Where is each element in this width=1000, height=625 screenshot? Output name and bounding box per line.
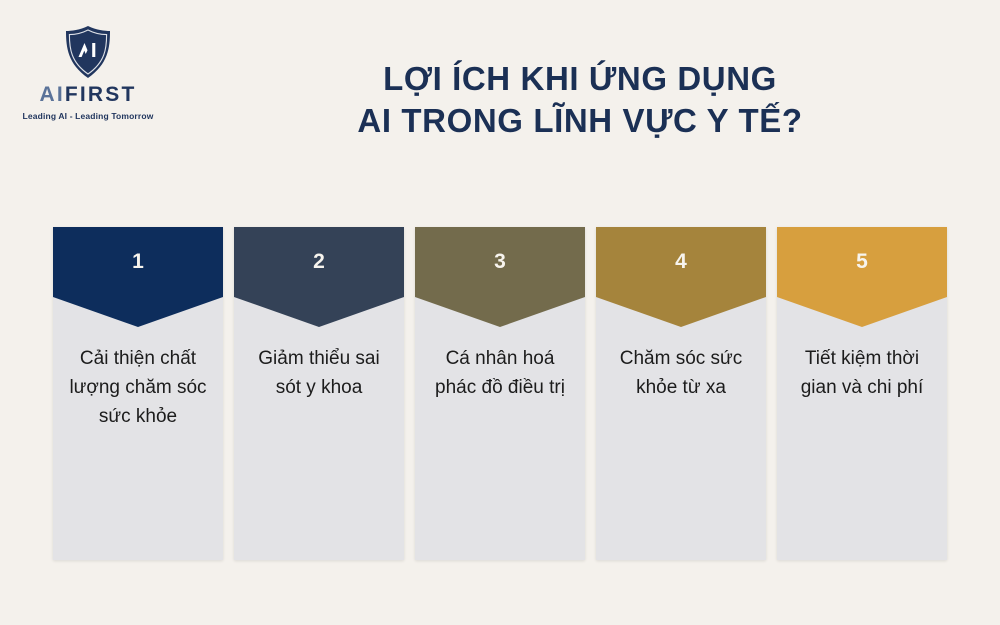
brand-wordmark-suffix: FIRST <box>65 83 137 106</box>
benefit-card-4: 4 Chăm sóc sức khỏe từ xa <box>596 227 766 560</box>
benefit-card-2-number: 2 <box>313 251 325 272</box>
benefit-card-5-text: Tiết kiệm thời gian và chi phí <box>777 345 947 403</box>
benefit-cards-row: 1 Cải thiện chất lượng chăm sóc sức khỏe… <box>53 227 947 560</box>
page-title-line-2: AI TRONG LĨNH VỰC Y TẾ? <box>180 100 980 142</box>
page-title-line-1: LỢI ÍCH KHI ỨNG DỤNG <box>180 58 980 100</box>
benefit-card-3-header: 3 <box>415 227 585 327</box>
benefit-card-5: 5 Tiết kiệm thời gian và chi phí <box>777 227 947 560</box>
benefit-card-1-number: 1 <box>132 251 144 272</box>
brand-tagline: Leading AI - Leading Tomorrow <box>18 112 158 121</box>
brand-logo: AIFIRST Leading AI - Leading Tomorrow <box>18 24 158 121</box>
benefit-card-1: 1 Cải thiện chất lượng chăm sóc sức khỏe <box>53 227 223 560</box>
benefit-card-3-text: Cá nhân hoá phác đồ điều trị <box>415 345 585 403</box>
shield-ai-icon <box>62 24 114 80</box>
benefit-card-2-text: Giảm thiểu sai sót y khoa <box>234 345 404 403</box>
benefit-card-1-header: 1 <box>53 227 223 327</box>
page-title: LỢI ÍCH KHI ỨNG DỤNG AI TRONG LĨNH VỰC Y… <box>180 58 980 142</box>
benefit-card-2-header: 2 <box>234 227 404 327</box>
benefit-card-4-header: 4 <box>596 227 766 327</box>
benefit-card-1-text: Cải thiện chất lượng chăm sóc sức khỏe <box>53 345 223 432</box>
benefit-card-3-number: 3 <box>494 251 506 272</box>
brand-wordmark-prefix: AI <box>39 83 64 106</box>
benefit-card-4-number: 4 <box>675 251 687 272</box>
benefit-card-2: 2 Giảm thiểu sai sót y khoa <box>234 227 404 560</box>
benefit-card-3: 3 Cá nhân hoá phác đồ điều trị <box>415 227 585 560</box>
benefit-card-4-text: Chăm sóc sức khỏe từ xa <box>596 345 766 403</box>
benefit-card-5-number: 5 <box>856 251 868 272</box>
brand-wordmark: AIFIRST <box>18 84 158 105</box>
benefit-card-5-header: 5 <box>777 227 947 327</box>
